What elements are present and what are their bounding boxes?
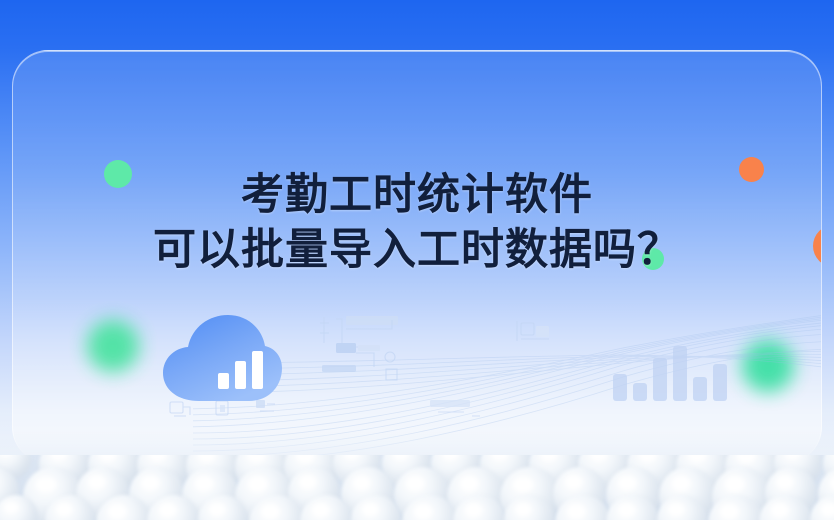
bubble-texture-strip — [0, 455, 834, 520]
headline-line-1: 考勤工时统计软件 — [241, 171, 593, 219]
wireframe-decoration-bottom-right — [428, 396, 518, 422]
wireframe-decoration-right — [513, 319, 583, 359]
poster-headline: 考勤工时统计软件 可以批量导入工时数据吗？ — [0, 168, 834, 278]
headline-line-2: 可以批量导入工时数据吗？ — [0, 223, 834, 278]
mini-bar-chart — [613, 341, 733, 401]
cloud-bar-chart-icon — [161, 313, 283, 405]
wireframe-decoration-left — [318, 313, 433, 393]
poster-canvas: 考勤工时统计软件 可以批量导入工时数据吗？ — [0, 0, 834, 520]
